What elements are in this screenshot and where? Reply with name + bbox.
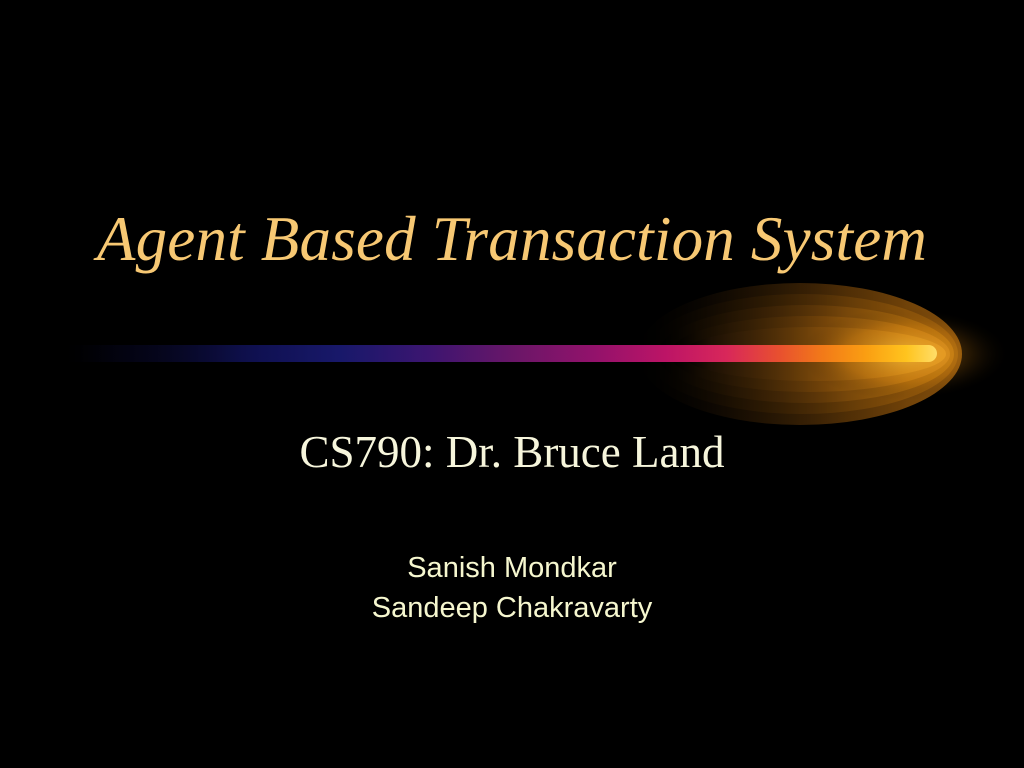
comet-tip-glow (800, 308, 1010, 400)
comet-ellipse-bands (638, 283, 962, 425)
slide-title: Agent Based Transaction System (97, 206, 927, 272)
authors-container: Sanish Mondkar Sandeep Chakravarty (0, 548, 1024, 628)
comet-streak (60, 345, 937, 362)
author-name-1: Sanish Mondkar (0, 548, 1024, 588)
presentation-slide: Agent Based Transaction System CS790: Dr… (0, 0, 1024, 768)
comet-ripple-graphic (0, 0, 1024, 768)
title-container: Agent Based Transaction System (0, 206, 1024, 272)
author-name-2: Sandeep Chakravarty (0, 588, 1024, 628)
subtitle-container: CS790: Dr. Bruce Land (0, 428, 1024, 478)
slide-subtitle: CS790: Dr. Bruce Land (300, 428, 725, 478)
